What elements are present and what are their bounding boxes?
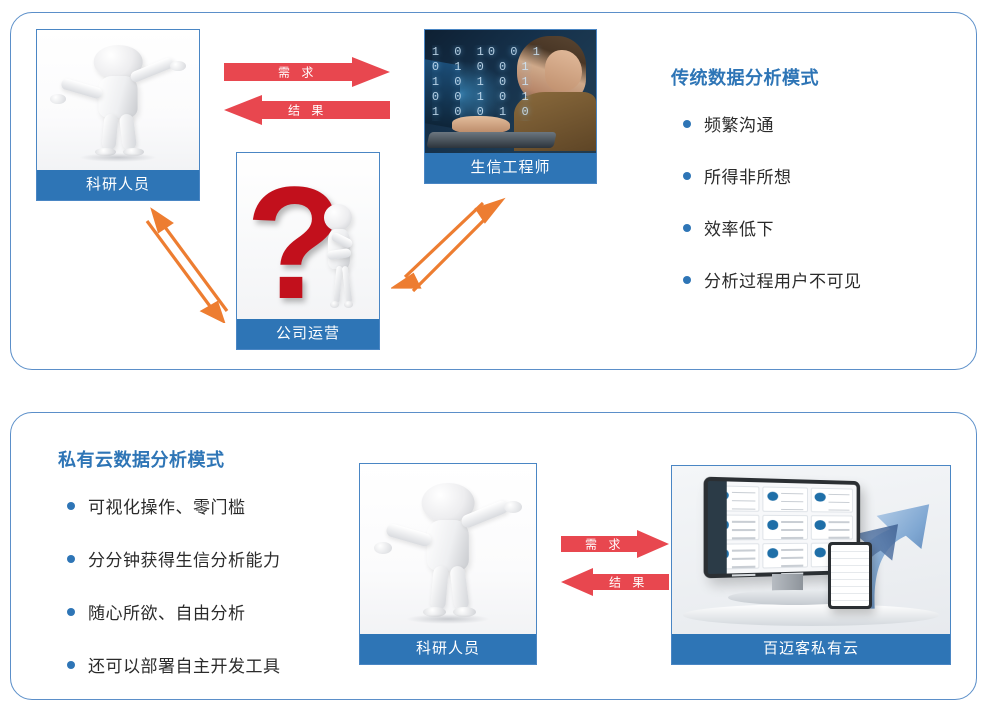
bullet-text: 频繁沟通 bbox=[704, 111, 774, 136]
bullet-text: 还可以部署自主开发工具 bbox=[88, 652, 281, 677]
mannequin-figure-icon bbox=[360, 464, 536, 634]
arrow-label-result-bottom: 结 果 bbox=[609, 574, 648, 591]
researcher-image bbox=[360, 464, 536, 634]
bullet-item: 频繁沟通 bbox=[683, 111, 862, 136]
double-arrow-diagonal-icon bbox=[391, 191, 509, 309]
traditional-mode-bullet-list: 频繁沟通 所得非所想 效率低下 分析过程用户不可见 bbox=[683, 111, 862, 292]
bullet-dot-icon bbox=[67, 502, 75, 510]
bullet-dot-icon bbox=[67, 608, 75, 616]
arrow-label-request-bottom: 需 求 bbox=[585, 536, 624, 553]
bullet-dot-icon bbox=[683, 172, 691, 180]
private-cloud-mode-panel: 私有云数据分析模式 可视化操作、零门槛 分分钟获得生信分析能力 随心所欲、自由分… bbox=[10, 412, 977, 700]
bullet-item: 分分钟获得生信分析能力 bbox=[67, 546, 281, 571]
bullet-text: 随心所欲、自由分析 bbox=[88, 599, 246, 624]
bullet-text: 分分钟获得生信分析能力 bbox=[88, 546, 281, 571]
question-mark-icon: ? bbox=[237, 153, 379, 319]
card-researcher-top[interactable]: 科研人员 bbox=[36, 29, 200, 201]
bullet-item: 可视化操作、零门槛 bbox=[67, 493, 281, 518]
cloud-platform-icon bbox=[672, 466, 950, 634]
bullet-item: 还可以部署自主开发工具 bbox=[67, 652, 281, 677]
bullet-dot-icon bbox=[683, 276, 691, 284]
arrow-label-request-top: 需 求 bbox=[278, 64, 317, 81]
double-arrow-diagonal-icon bbox=[131, 193, 241, 323]
arrow-request-top: 需 求 bbox=[224, 57, 390, 87]
bullet-text: 所得非所想 bbox=[704, 163, 792, 188]
bullet-item: 效率低下 bbox=[683, 215, 862, 240]
bullet-text: 分析过程用户不可见 bbox=[704, 267, 862, 292]
private-cloud-image bbox=[672, 466, 950, 634]
bullet-text: 效率低下 bbox=[704, 215, 774, 240]
arrow-result-bottom: 结 果 bbox=[561, 568, 669, 596]
private-cloud-bullet-list: 可视化操作、零门槛 分分钟获得生信分析能力 随心所欲、自由分析 还可以部署自主开… bbox=[67, 493, 281, 677]
arrow-request-bottom: 需 求 bbox=[561, 530, 669, 558]
bullet-dot-icon bbox=[683, 120, 691, 128]
arrow-result-top: 结 果 bbox=[224, 95, 390, 125]
arrow-label-result-top: 结 果 bbox=[288, 102, 327, 119]
card-private-cloud[interactable]: 百迈客私有云 bbox=[671, 465, 951, 665]
tablet-icon bbox=[828, 542, 872, 609]
bullet-item: 随心所欲、自由分析 bbox=[67, 599, 281, 624]
traditional-mode-panel: 科研人员 ? 公司运营 bbox=[10, 12, 977, 370]
card-operations[interactable]: ? 公司运营 bbox=[236, 152, 380, 350]
binary-digits: 1 0 10 0 1 0 1 0 0 1 1 0 1 0 1 0 0 1 0 1… bbox=[432, 45, 545, 121]
bullet-dot-icon bbox=[683, 224, 691, 232]
traditional-mode-heading: 传统数据分析模式 bbox=[671, 64, 819, 90]
card-label-engineer: 生信工程师 bbox=[425, 153, 596, 183]
bullet-dot-icon bbox=[67, 661, 75, 669]
bullet-dot-icon bbox=[67, 555, 75, 563]
bullet-text: 可视化操作、零门槛 bbox=[88, 493, 246, 518]
mannequin-figure-icon bbox=[37, 30, 199, 170]
arrow-researcher-operations bbox=[131, 193, 241, 323]
card-engineer[interactable]: 1 0 10 0 1 0 1 0 0 1 1 0 1 0 1 0 0 1 0 1… bbox=[424, 29, 597, 184]
private-cloud-heading: 私有云数据分析模式 bbox=[58, 446, 225, 472]
card-label-operations: 公司运营 bbox=[237, 319, 379, 349]
bullet-item: 所得非所想 bbox=[683, 163, 862, 188]
card-label-researcher-bottom: 科研人员 bbox=[360, 634, 536, 664]
coder-photo-icon: 1 0 10 0 1 0 1 0 0 1 1 0 1 0 1 0 0 1 0 1… bbox=[425, 30, 596, 153]
bullet-item: 分析过程用户不可见 bbox=[683, 267, 862, 292]
card-researcher-bottom[interactable]: 科研人员 bbox=[359, 463, 537, 665]
operations-image: ? bbox=[237, 153, 379, 319]
researcher-image bbox=[37, 30, 199, 170]
card-label-private-cloud: 百迈客私有云 bbox=[672, 634, 950, 664]
arrow-operations-engineer bbox=[391, 191, 509, 309]
engineer-image: 1 0 10 0 1 0 1 0 0 1 1 0 1 0 1 0 0 1 0 1… bbox=[425, 30, 596, 153]
